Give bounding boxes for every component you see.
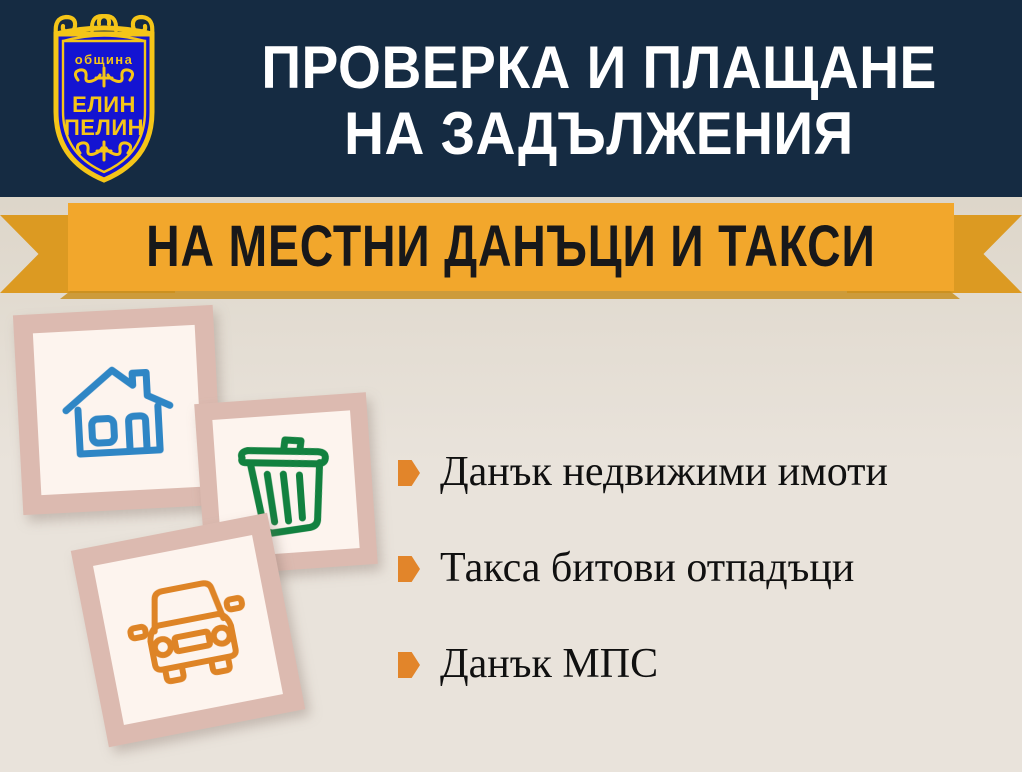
stamp-car bbox=[71, 513, 305, 747]
ribbon-panel: НА МЕСТНИ ДАНЪЦИ И ТАКСИ bbox=[68, 203, 954, 291]
arrow-bullet-icon bbox=[398, 652, 420, 678]
list-item-label: Данък МПС bbox=[440, 641, 658, 687]
stamp-house-paper bbox=[33, 325, 203, 495]
svg-text:ЕЛИН: ЕЛИН bbox=[72, 92, 136, 117]
arrow-bullet-icon bbox=[398, 460, 420, 486]
tax-type-list: Данък недвижими имоти Такса битови отпад… bbox=[398, 424, 1018, 712]
list-item[interactable]: Данък МПС bbox=[398, 616, 1018, 712]
stamp-car-paper bbox=[93, 535, 283, 725]
subtitle-ribbon: НА МЕСТНИ ДАНЪЦИ И ТАКСИ bbox=[0, 199, 1022, 309]
list-item-label: Такса битови отпадъци bbox=[440, 545, 854, 591]
list-item[interactable]: Данък недвижими имоти bbox=[398, 424, 1018, 520]
header-bar: община ЕЛИН ПЕЛИН bbox=[0, 0, 1022, 197]
svg-text:община: община bbox=[75, 52, 133, 67]
arrow-bullet-icon bbox=[398, 556, 420, 582]
header-title-group: ПРОВЕРКА И ПЛАЩАНЕ НА ЗАДЪЛЖЕНИЯ bbox=[176, 0, 1022, 197]
car-front-icon bbox=[118, 567, 258, 692]
list-item-label: Данък недвижими имоти bbox=[440, 449, 888, 495]
ribbon-label: НА МЕСТНИ ДАНЪЦИ И ТАКСИ bbox=[146, 218, 875, 276]
page-title-line-1: ПРОВЕРКА И ПЛАЩАНЕ bbox=[261, 35, 936, 101]
poster-root: община ЕЛИН ПЕЛИН bbox=[0, 0, 1022, 772]
page-title-line-2: НА ЗАДЪЛЖЕНИЯ bbox=[344, 101, 854, 167]
stamp-collage bbox=[0, 300, 420, 772]
stamp-house bbox=[13, 305, 223, 515]
coat-of-arms: община ЕЛИН ПЕЛИН bbox=[34, 8, 174, 188]
svg-text:ПЕЛИН: ПЕЛИН bbox=[64, 115, 144, 140]
list-item[interactable]: Такса битови отпадъци bbox=[398, 520, 1018, 616]
house-icon bbox=[55, 353, 180, 467]
